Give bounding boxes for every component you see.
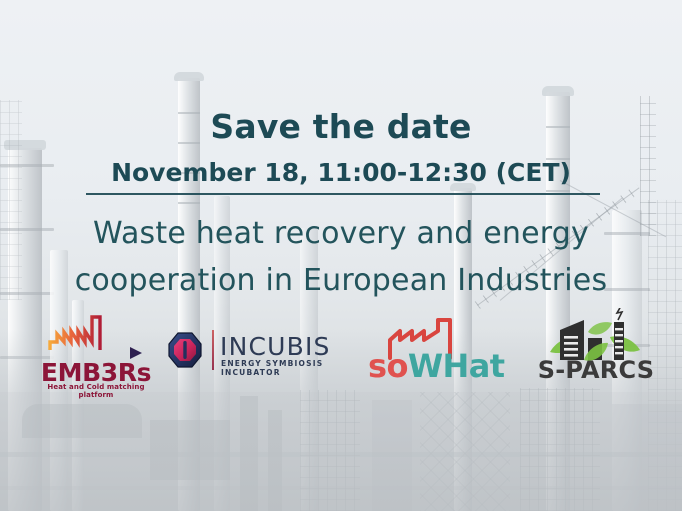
- hexagon-gem-icon: [168, 332, 202, 368]
- logo-sowhat[interactable]: soWHat: [368, 314, 498, 390]
- logo-s-parcs[interactable]: S-PARCS: [536, 308, 656, 394]
- logo-incubis[interactable]: INCUBIS ENERGY SYMBIOSIS INCUBATOR: [168, 330, 328, 384]
- event-announcement-poster: Save the date November 18, 11:00-12:30 (…: [0, 0, 682, 511]
- incubis-tagline: ENERGY SYMBIOSIS INCUBATOR: [221, 359, 328, 377]
- event-headline: Waste heat recovery and energy cooperati…: [40, 210, 642, 305]
- sowhat-wordmark-part2: WHat: [408, 347, 505, 385]
- s-parcs-wordmark: S-PARCS: [536, 356, 656, 384]
- sowhat-wordmark-part1: so: [368, 347, 408, 385]
- logo-emb3rs[interactable]: EMB3Rs Heat and Cold matching platform: [36, 312, 156, 396]
- divider: [86, 193, 600, 195]
- event-datetime: November 18, 11:00-12:30 (CET): [0, 159, 682, 187]
- factory-arrow-icon: [48, 312, 144, 360]
- partner-logo-row: EMB3Rs Heat and Cold matching platform: [0, 300, 682, 400]
- emb3rs-tagline: Heat and Cold matching platform: [36, 383, 156, 399]
- logo-divider: [212, 330, 214, 370]
- sowhat-wordmark: soWHat: [368, 350, 490, 382]
- incubis-wordmark: INCUBIS: [220, 332, 331, 361]
- page-title: Save the date: [0, 110, 682, 145]
